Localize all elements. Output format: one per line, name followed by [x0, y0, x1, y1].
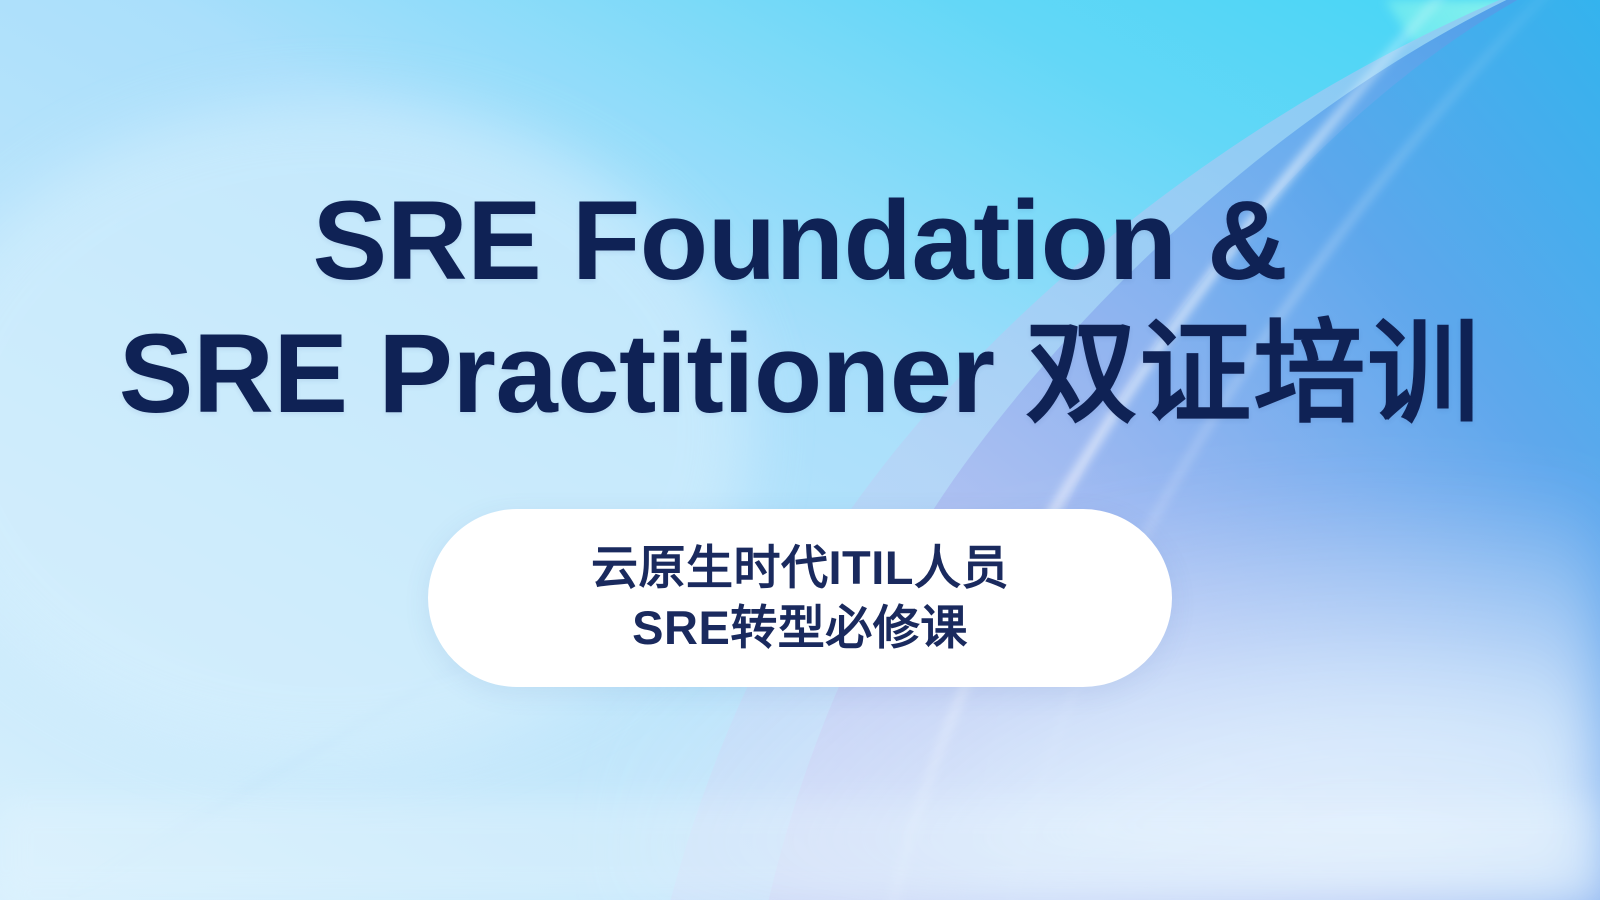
poster-canvas: SRE Foundation & SRE Practitioner 双证培训 云… [0, 0, 1600, 900]
title-line-1: SRE Foundation & [119, 178, 1481, 305]
title-line-2: SRE Practitioner 双证培训 [119, 311, 1481, 438]
badge-line-1: 云原生时代ITIL人员 [591, 538, 1009, 598]
poster-title: SRE Foundation & SRE Practitioner 双证培训 [119, 178, 1481, 437]
title-line-2-chinese: 双证培训 [1025, 311, 1481, 436]
title-line-2-english: SRE Practitioner [119, 311, 995, 436]
subtitle-badge: 云原生时代ITIL人员 SRE转型必修课 [428, 509, 1172, 687]
badge-line-2: SRE转型必修课 [632, 598, 968, 658]
poster-content: SRE Foundation & SRE Practitioner 双证培训 云… [0, 0, 1600, 900]
title-spacer [995, 311, 1026, 436]
